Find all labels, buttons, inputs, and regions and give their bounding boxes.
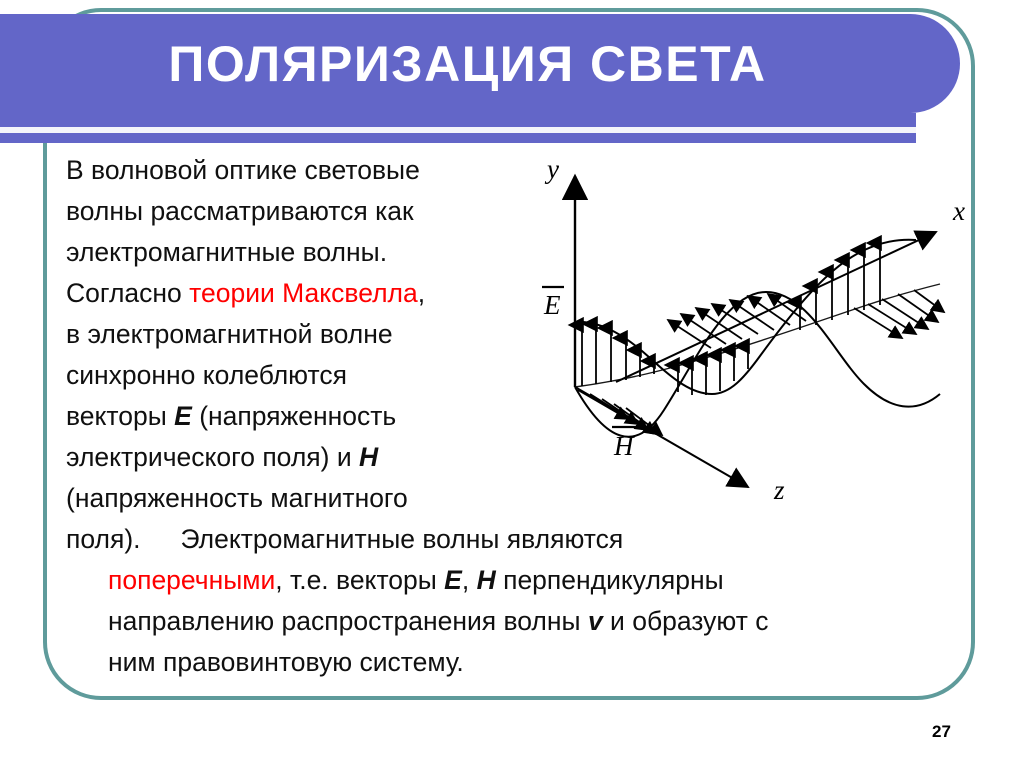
axis-x-label: x	[952, 196, 965, 226]
body-line-4-post: ,	[418, 278, 425, 308]
body-line-3: электромагнитные волны.	[66, 232, 536, 273]
body-line-1: В волновой оптике световые	[66, 150, 536, 191]
title-banner-white-stripe	[0, 127, 916, 133]
wave-baseline	[575, 284, 940, 387]
body-line-8-pre: электрического поля) и	[66, 442, 359, 472]
body-line-4-pre: Согласно	[66, 278, 189, 308]
body-line-11: поперечными, т.е. векторы E, H перпендик…	[66, 560, 946, 601]
axis-y-label: y	[544, 154, 559, 184]
vector-h-label: H	[612, 427, 638, 461]
body-line-11-post: перпендикулярны	[496, 565, 724, 595]
body-column-left: В волновой оптике световые волны рассмат…	[66, 150, 536, 519]
transverse-highlight: поперечными	[108, 565, 275, 595]
body-line-12: направлению распространения волны v и об…	[66, 601, 946, 642]
page-title: ПОЛЯРИЗАЦИЯ СВЕТА	[0, 14, 935, 113]
vector-h-symbol: H	[359, 442, 378, 472]
axis-x: x	[616, 196, 965, 382]
body-paragraph-tail: поля).Электромагнитные волны являются по…	[66, 519, 946, 683]
body-line-10-pre: поля).	[66, 524, 141, 554]
vector-e-label: E	[542, 287, 564, 320]
body-line-7-pre: векторы	[66, 401, 174, 431]
axis-y: y	[544, 154, 575, 387]
axis-z-label: z	[773, 475, 785, 505]
body-line-11-comma: ,	[462, 565, 477, 595]
vector-e-symbol-2: E	[444, 565, 462, 595]
slide: ПОЛЯРИЗАЦИЯ СВЕТА В волновой оптике свет…	[0, 0, 1024, 767]
maxwell-theory-highlight: теории Максвелла	[189, 278, 418, 308]
body-line-12-pre: направлению распространения волны	[108, 606, 588, 636]
body-line-11-mid: , т.е. векторы	[275, 565, 444, 595]
body-line-13: ним правовинтовую систему.	[66, 642, 946, 683]
vector-h-symbol-2: H	[477, 565, 496, 595]
body-line-9: (напряженность магнитного	[66, 478, 536, 519]
vector-e-symbol: E	[174, 401, 192, 431]
body-line-12-post: и образуют с	[603, 606, 769, 636]
page-number: 27	[932, 722, 951, 742]
vector-h-label-text: H	[613, 431, 635, 461]
body-line-6: синхронно колеблются	[66, 355, 536, 396]
body-line-2: волны рассматриваются как	[66, 191, 536, 232]
vector-v-symbol: v	[588, 606, 603, 636]
body-line-4: Согласно теории Максвелла,	[66, 273, 536, 314]
vector-e-label-text: E	[543, 290, 561, 320]
body-line-8: электрического поля) и H	[66, 437, 536, 478]
body-line-7-post: (напряженность	[192, 401, 396, 431]
body-line-7: векторы E (напряженность	[66, 396, 536, 437]
h-field-arrows-lobe3	[854, 290, 944, 338]
electromagnetic-wave-diagram: y z x	[516, 142, 986, 532]
body-line-5: в электромагнитной волне	[66, 314, 536, 355]
